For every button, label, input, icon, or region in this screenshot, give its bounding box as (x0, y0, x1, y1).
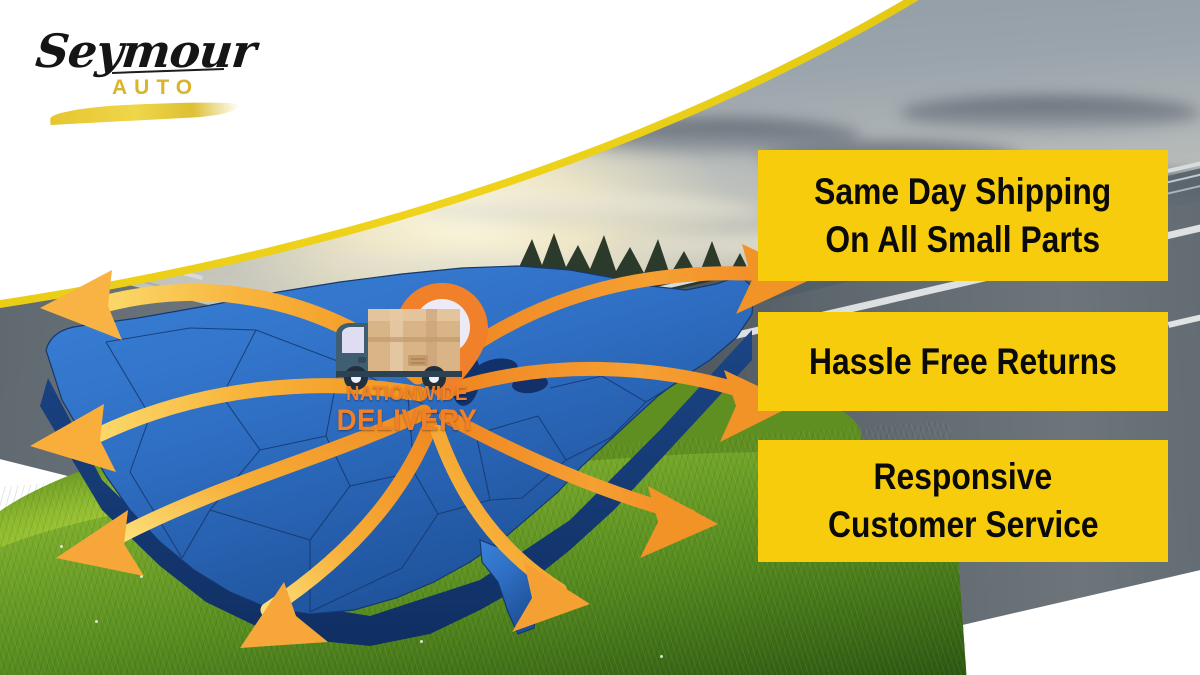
seymour-auto-logo[interactable]: Seymour AUTO (28, 18, 248, 118)
message-line: Hassle Free Returns (809, 338, 1117, 386)
cloud (900, 96, 1200, 130)
message-line: Responsive (874, 453, 1053, 501)
nationwide-label: NATIONWIDE (320, 383, 495, 405)
message-box-responsive-customer-service: Responsive Customer Service (758, 440, 1168, 562)
message-line: On All Small Parts (826, 216, 1101, 264)
logo-brand-sub: AUTO (112, 76, 199, 100)
message-line: Customer Service (828, 501, 1099, 549)
marketing-banner: NATIONWIDE DELIVERY Same Day Shipping On… (0, 0, 1200, 675)
arrow-south-east-lower (438, 432, 590, 632)
message-box-same-day-shipping: Same Day Shipping On All Small Parts (758, 150, 1168, 281)
delivery-truck-icon (336, 309, 462, 390)
message-line: Same Day Shipping (814, 168, 1111, 216)
message-box-hassle-free-returns: Hassle Free Returns (758, 312, 1168, 411)
nationwide-delivery-text: NATIONWIDE DELIVERY (312, 383, 502, 437)
delivery-label: DELIVERY (320, 405, 495, 437)
